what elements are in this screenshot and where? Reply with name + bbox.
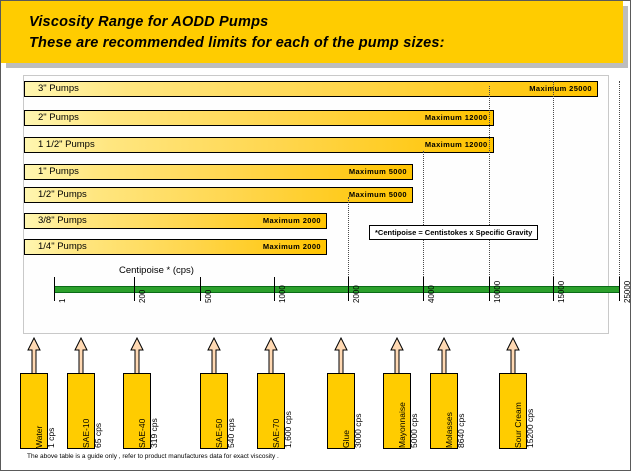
fluid-viscosity-value: 3000 cps — [344, 372, 372, 448]
axis-tick — [553, 277, 554, 301]
axis-tick-label: 2000 — [352, 285, 361, 303]
fluid-viscosity-value: 540 cps — [217, 372, 245, 448]
bar-max-label: Maximum 2000 — [249, 214, 321, 227]
fluid-arrow-icon — [263, 337, 279, 375]
page-subtitle: These are recommended limits for each of… — [29, 35, 445, 51]
bar-row: 1/4" PumpsMaximum 2000 — [1, 239, 631, 255]
fluid-viscosity-value: 319 cps — [140, 372, 168, 448]
bar-row: 1 1/2" PumpsMaximum 12000 — [1, 137, 631, 153]
bar-max-label: Maximum 2000 — [249, 240, 321, 253]
fluid-arrow-icon — [436, 337, 452, 375]
fluid-arrow-icon — [505, 337, 521, 375]
axis-tick — [348, 277, 349, 301]
bar-category-label: 3" Pumps — [38, 82, 79, 95]
fluid-box: SAE-40319 cps — [123, 373, 151, 449]
axis-tick — [274, 277, 275, 301]
axis-tick — [134, 277, 135, 301]
fluid-arrow-icon — [73, 337, 89, 375]
bar-category-label: 1" Pumps — [38, 165, 79, 178]
bar-category-label: 2" Pumps — [38, 111, 79, 124]
axis-tick — [423, 277, 424, 301]
bar-row: 2" PumpsMaximum 12000 — [1, 110, 631, 126]
guide-line — [553, 81, 554, 297]
fluid-box: Glue3000 cps — [327, 373, 355, 449]
axis-tick — [489, 277, 490, 301]
bar-category-label: 1/4" Pumps — [38, 240, 87, 253]
guide-line — [489, 86, 490, 297]
bar-max-label: Maximum 25000 — [520, 82, 592, 95]
fluid-viscosity-value: 15200 cps — [516, 372, 544, 448]
guide-line — [619, 81, 620, 297]
pump-size-bar — [24, 81, 598, 97]
banner-right-shadow — [623, 6, 628, 68]
axis-tick — [54, 277, 55, 301]
fluid-viscosity-value: 5000 cps — [400, 372, 428, 448]
axis-tick — [619, 277, 620, 301]
axis-tick-label: 1000 — [278, 285, 287, 303]
fluid-viscosity-value: 1,600 cps — [274, 372, 302, 448]
bar-row: 3" PumpsMaximum 25000 — [1, 81, 631, 97]
bar-category-label: 3/8" Pumps — [38, 214, 87, 227]
fluid-arrow-icon — [333, 337, 349, 375]
bar-max-label: Maximum 12000 — [416, 111, 488, 124]
fluid-box: Mayonnaise5000 cps — [383, 373, 411, 449]
bar-max-label: Maximum 5000 — [335, 188, 407, 201]
axis-tick-label: 15000 — [557, 281, 566, 303]
axis-tick-label: 4000 — [427, 285, 436, 303]
bar-max-label: Maximum 5000 — [335, 165, 407, 178]
fluid-arrow-icon — [26, 337, 42, 375]
bar-row: 1/2" PumpsMaximum 5000 — [1, 187, 631, 203]
bar-category-label: 1/2" Pumps — [38, 188, 87, 201]
fluid-box: SAE-701,600 cps — [257, 373, 285, 449]
axis-title: Centipoise * (cps) — [119, 265, 194, 276]
banner-shadow — [6, 63, 626, 68]
fluid-arrow-icon — [389, 337, 405, 375]
fluid-box: Water1 cps — [20, 373, 48, 449]
axis-tick-label: 10000 — [493, 281, 502, 303]
fluid-box: Sour Cream15200 cps — [499, 373, 527, 449]
axis-tick-label: 200 — [138, 290, 147, 303]
bar-category-label: 1 1/2" Pumps — [38, 138, 95, 151]
axis-tick-label: 500 — [204, 290, 213, 303]
axis-tick-label: 25000 — [623, 281, 631, 303]
fluid-viscosity-value: 8640 cps — [447, 372, 475, 448]
bar-max-label: Maximum 12000 — [416, 138, 488, 151]
footer-disclaimer: The above table is a guide only , refer … — [27, 453, 279, 460]
title-banner: Viscosity Range for AODD Pumps These are… — [1, 1, 623, 63]
viscosity-chart-page: Viscosity Range for AODD Pumps These are… — [0, 0, 631, 471]
fluid-box: Molasses8640 cps — [430, 373, 458, 449]
axis-tick-label: 1 — [58, 299, 67, 303]
bar-row: 1" PumpsMaximum 5000 — [1, 164, 631, 180]
page-title: Viscosity Range for AODD Pumps — [29, 14, 268, 30]
centipoise-note: *Centipoise = Centistokes x Specific Gra… — [369, 225, 538, 240]
fluid-box: SAE-50540 cps — [200, 373, 228, 449]
fluid-viscosity-value: 65 cps — [84, 372, 112, 448]
fluid-arrow-icon — [129, 337, 145, 375]
guide-line — [423, 151, 424, 297]
axis-tick — [200, 277, 201, 301]
fluid-box: SAE-1065 cps — [67, 373, 95, 449]
fluid-arrow-icon — [206, 337, 222, 375]
fluid-viscosity-value: 1 cps — [37, 372, 65, 448]
